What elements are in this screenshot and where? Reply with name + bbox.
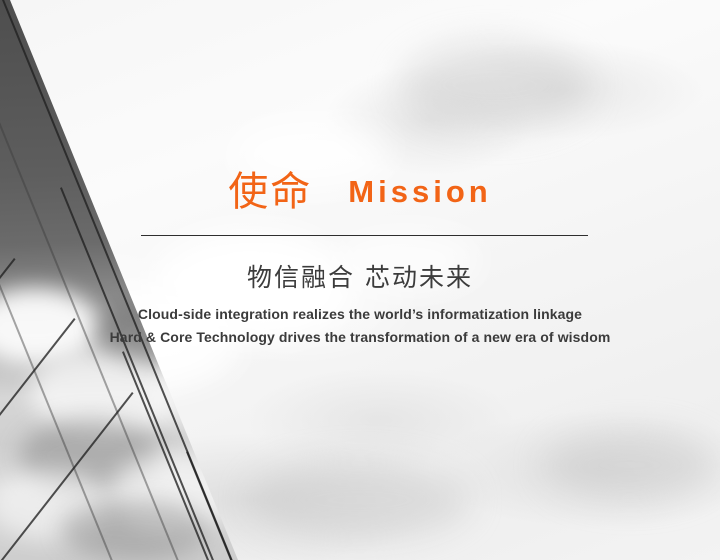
tagline-line-2: Hard & Core Technology drives the transf… [0,326,720,349]
banner-content: 使命Mission 物信融合 芯动未来 Cloud-side integrati… [0,0,720,560]
page-title: 使命Mission [0,172,720,212]
tagline-block: Cloud-side integration realizes the worl… [0,303,720,349]
page-title-en: Mission [348,174,491,209]
page-title-cn: 使命 [228,169,312,215]
subtitle-cn: 物信融合 芯动未来 [0,258,720,294]
title-divider [141,235,588,236]
tagline-line-1: Cloud-side integration realizes the worl… [0,303,720,326]
mission-banner: 使命Mission 物信融合 芯动未来 Cloud-side integrati… [0,0,720,560]
